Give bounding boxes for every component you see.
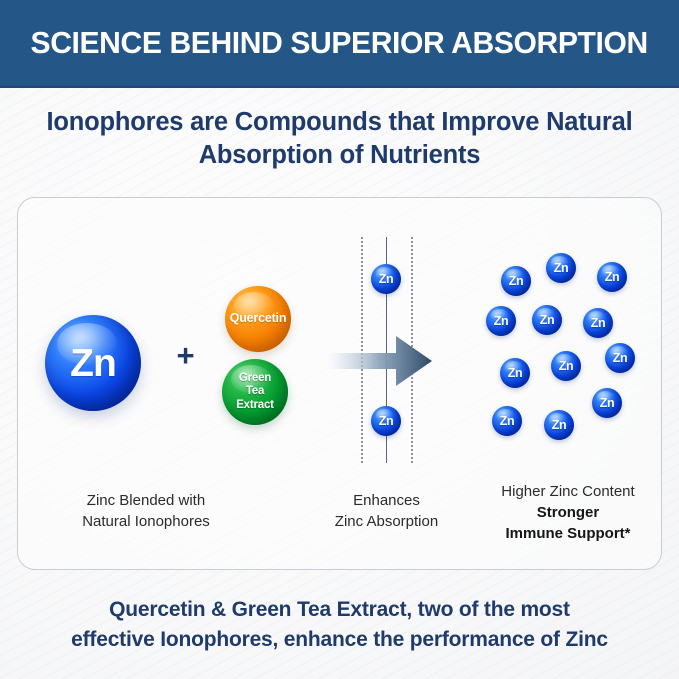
footer-statement: Quercetin & Green Tea Extract, two of th…: [0, 595, 679, 655]
zinc-molecule: Zn: [546, 253, 576, 283]
zinc-molecule-label: Zn: [508, 366, 522, 380]
zinc-molecule: Zn: [532, 305, 562, 335]
zinc-molecule: Zn: [501, 266, 531, 296]
zinc-molecule: Zn: [544, 410, 574, 440]
zinc-molecule-label: Zn: [600, 396, 614, 410]
caption-right-line-1: Higher Zinc Content: [470, 481, 666, 502]
footer-line-2: effective Ionophores, enhance the perfor…: [0, 625, 679, 655]
zinc-sphere-label: Zn: [70, 344, 116, 383]
caption-middle-line-1: Enhances: [318, 490, 455, 511]
zinc-molecule: Zn: [583, 308, 613, 338]
absorption-arrow-icon: [322, 333, 434, 389]
caption-right-line-2: Stronger: [470, 502, 666, 523]
footer-line-1: Quercetin & Green Tea Extract, two of th…: [0, 595, 679, 625]
membrane-zinc-molecule-top-label: Zn: [379, 272, 393, 286]
zinc-molecule-label: Zn: [613, 351, 627, 365]
page-title: SCIENCE BEHIND SUPERIOR ABSORPTION: [31, 25, 648, 61]
zinc-molecule: Zn: [551, 351, 581, 381]
zinc-molecule: Zn: [492, 406, 522, 436]
infographic-canvas: SCIENCE BEHIND SUPERIOR ABSORPTION Ionop…: [0, 0, 679, 679]
zinc-molecule-label: Zn: [540, 313, 554, 327]
header-banner: SCIENCE BEHIND SUPERIOR ABSORPTION: [0, 0, 679, 88]
zinc-molecule: Zn: [597, 262, 627, 292]
zinc-molecule: Zn: [486, 306, 516, 336]
zinc-molecule-label: Zn: [500, 414, 514, 428]
zinc-molecule-label: Zn: [494, 314, 508, 328]
green-tea-label-line-2: Tea: [246, 385, 264, 397]
caption-right-line-3: Immune Support*: [470, 523, 666, 544]
membrane-zinc-molecule-bottom-label: Zn: [379, 414, 393, 428]
zinc-molecule-label: Zn: [509, 274, 523, 288]
caption-left-line-2: Natural Ionophores: [48, 511, 244, 532]
zinc-molecule-label: Zn: [559, 359, 573, 373]
caption-left-line-1: Zinc Blended with: [48, 490, 244, 511]
zinc-molecule: Zn: [500, 358, 530, 388]
membrane-zinc-molecule-bottom: Zn: [371, 406, 401, 436]
zinc-molecule: Zn: [592, 388, 622, 418]
zinc-molecule: Zn: [605, 343, 635, 373]
zinc-molecule-label: Zn: [591, 316, 605, 330]
subtitle-heading: Ionophores are Compounds that Improve Na…: [0, 106, 679, 172]
quercetin-sphere-label: Quercetin: [230, 312, 287, 325]
zinc-molecule-label: Zn: [554, 261, 568, 275]
caption-middle-line-2: Zinc Absorption: [318, 511, 455, 532]
zinc-sphere-large: Zn: [45, 315, 141, 411]
green-tea-label-line-1: Green: [239, 372, 271, 384]
membrane-zinc-molecule-top: Zn: [371, 264, 401, 294]
zinc-molecule-label: Zn: [605, 270, 619, 284]
quercetin-sphere: Quercetin: [225, 286, 291, 352]
caption-right: Higher Zinc Content Stronger Immune Supp…: [470, 481, 666, 544]
caption-left: Zinc Blended with Natural Ionophores: [48, 490, 244, 532]
green-tea-label-line-3: Extract: [236, 399, 274, 411]
plus-icon: +: [173, 343, 198, 368]
zinc-molecule-label: Zn: [552, 418, 566, 432]
subtitle-line-1: Ionophores are Compounds that Improve Na…: [0, 106, 679, 139]
subtitle-line-2: Absorption of Nutrients: [0, 139, 679, 172]
green-tea-sphere-label: Green Tea Extract: [236, 372, 274, 413]
green-tea-extract-sphere: Green Tea Extract: [222, 359, 288, 425]
caption-middle: Enhances Zinc Absorption: [318, 490, 455, 532]
